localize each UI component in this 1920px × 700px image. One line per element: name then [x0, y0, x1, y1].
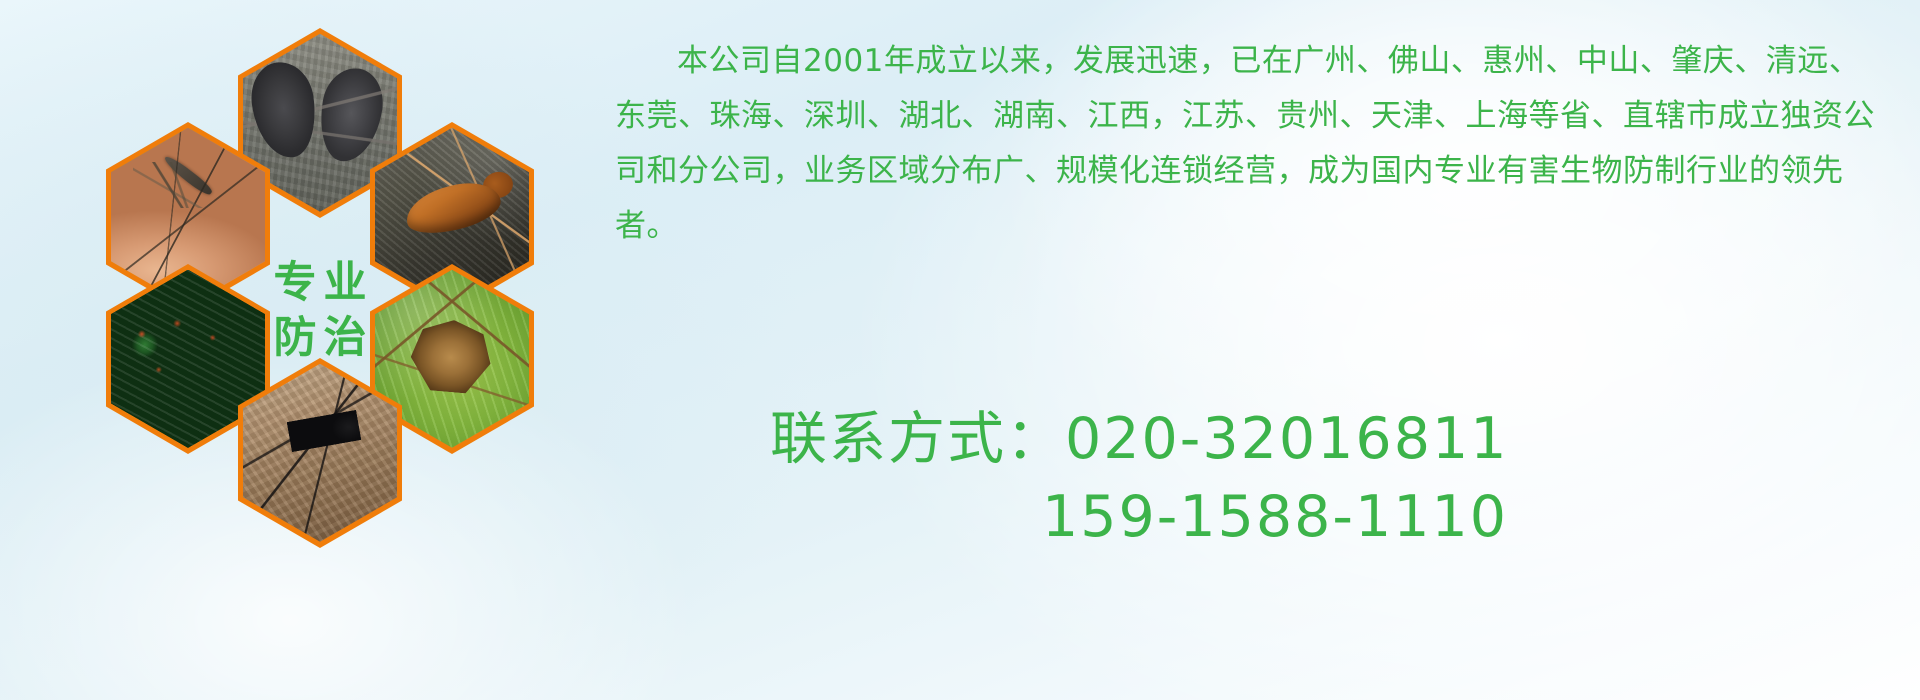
contact-phone-primary[interactable]: 联系方式：020-32016811: [770, 400, 1870, 478]
slogan-line-2: 防治: [267, 316, 374, 361]
intro-copy: 本公司自2001年成立以来，发展迅速，已在广州、佛山、惠州、中山、肇庆、清远、东…: [615, 34, 1890, 254]
ant-image: [243, 364, 397, 542]
contact-block: 联系方式：020-32016811 159-1588-1110: [770, 400, 1870, 556]
contact-phone-secondary[interactable]: 159-1588-1110: [770, 478, 1870, 556]
ant-photo-frame: [243, 364, 397, 542]
company-intro-paragraph: 本公司自2001年成立以来，发展迅速，已在广州、佛山、惠州、中山、肇庆、清远、东…: [615, 34, 1890, 254]
ant-legs: [243, 364, 397, 542]
hexagon-photo-collage: 专业 防治: [90, 10, 610, 570]
pest-control-banner: 专业 防治 本公司自2001年成立: [0, 0, 1920, 700]
slogan-line-1: 专业: [267, 261, 374, 306]
